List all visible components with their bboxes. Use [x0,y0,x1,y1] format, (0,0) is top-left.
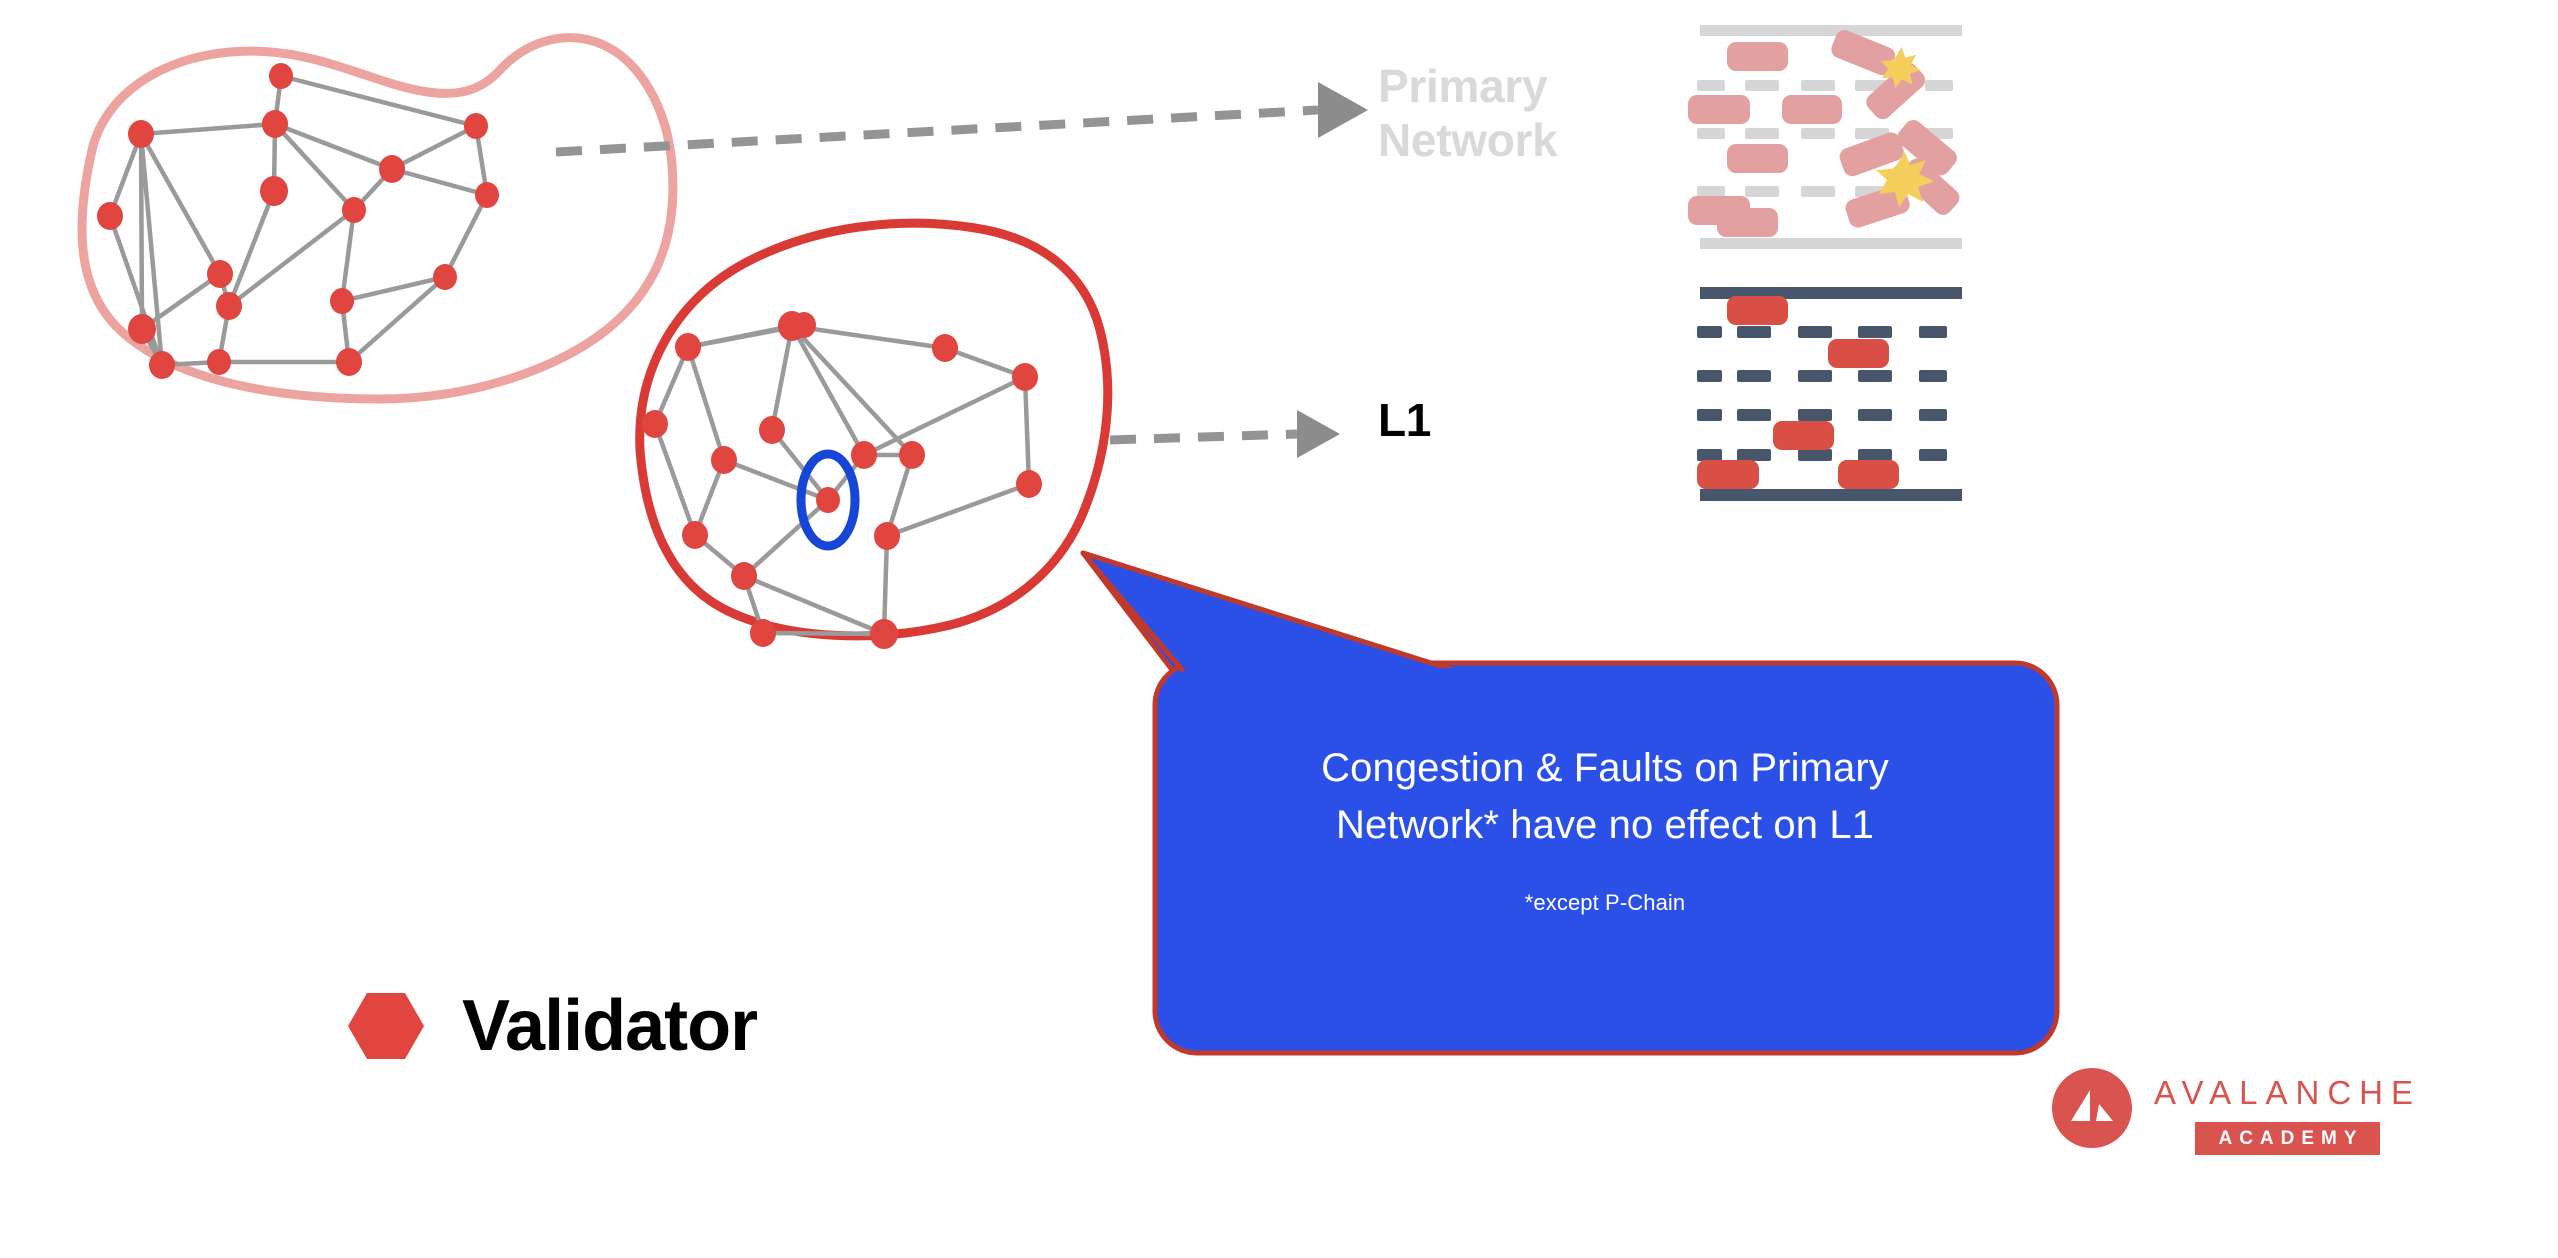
validator-node [379,155,405,183]
validator-node [433,264,457,290]
road-congested [1688,25,1963,249]
validator-node [207,349,231,375]
validator-node [262,110,288,138]
validator-node [870,619,898,649]
validator-node [216,292,242,320]
primary-network-label-line1: Primary [1378,60,1678,114]
validator-node [899,441,925,469]
validator-node [269,63,293,89]
primary-network-label-line2: Network [1378,114,1678,168]
validator-node [682,521,708,549]
primary-network-blob [82,38,673,399]
validator-node [675,333,701,361]
l1-label: L1 [1378,393,1431,447]
logo-wordmark: AVALANCHE ACADEMY [2154,1068,2421,1155]
validator-node [642,410,668,438]
avalanche-academy-logo: AVALANCHE ACADEMY [2052,1068,2421,1155]
validator-node-highlighted [816,487,840,513]
arrow-to-l1 [1110,410,1340,458]
validator-node [711,446,737,474]
validator-node [731,562,757,590]
legend-validator-label: Validator [462,990,757,1062]
validator-node [475,182,499,208]
l1-blob [640,223,1108,636]
validator-node [874,522,900,550]
validator-node [750,619,776,647]
logo-name-text: AVALANCHE [2154,1076,2421,1109]
callout-bubble [1083,553,2057,1053]
validator-node [464,113,488,139]
road-free-flowing [1697,287,1962,501]
validator-node [1012,363,1038,391]
validator-node [851,441,877,469]
avalanche-logo-icon [2052,1068,2132,1148]
validator-node [149,351,175,379]
validator-node [97,202,123,230]
validator-node [330,288,354,314]
validator-hexagon-swatch [348,993,424,1059]
validator-node [260,176,288,206]
avalanche-mark-svg [2052,1068,2132,1148]
validator-node [207,260,233,288]
logo-sub-text: ACADEMY [2195,1122,2379,1155]
validator-node [336,348,362,376]
free-flowing-cars [1697,296,1899,489]
validator-node [128,120,154,148]
validator-node [759,416,785,444]
primary-network-edges [110,76,487,365]
slide-canvas: Primary Network L1 Congestion & Faults o… [0,0,2558,1258]
validator-node [792,312,816,338]
l1-network-edges [655,325,1029,634]
validator-node [128,314,156,344]
validator-node [342,197,366,223]
primary-network-label: Primary Network [1378,60,1678,168]
validator-node [932,334,958,362]
arrow-to-primary-network [556,82,1368,152]
validator-node [1016,470,1042,498]
legend-validator: Validator [348,990,757,1062]
